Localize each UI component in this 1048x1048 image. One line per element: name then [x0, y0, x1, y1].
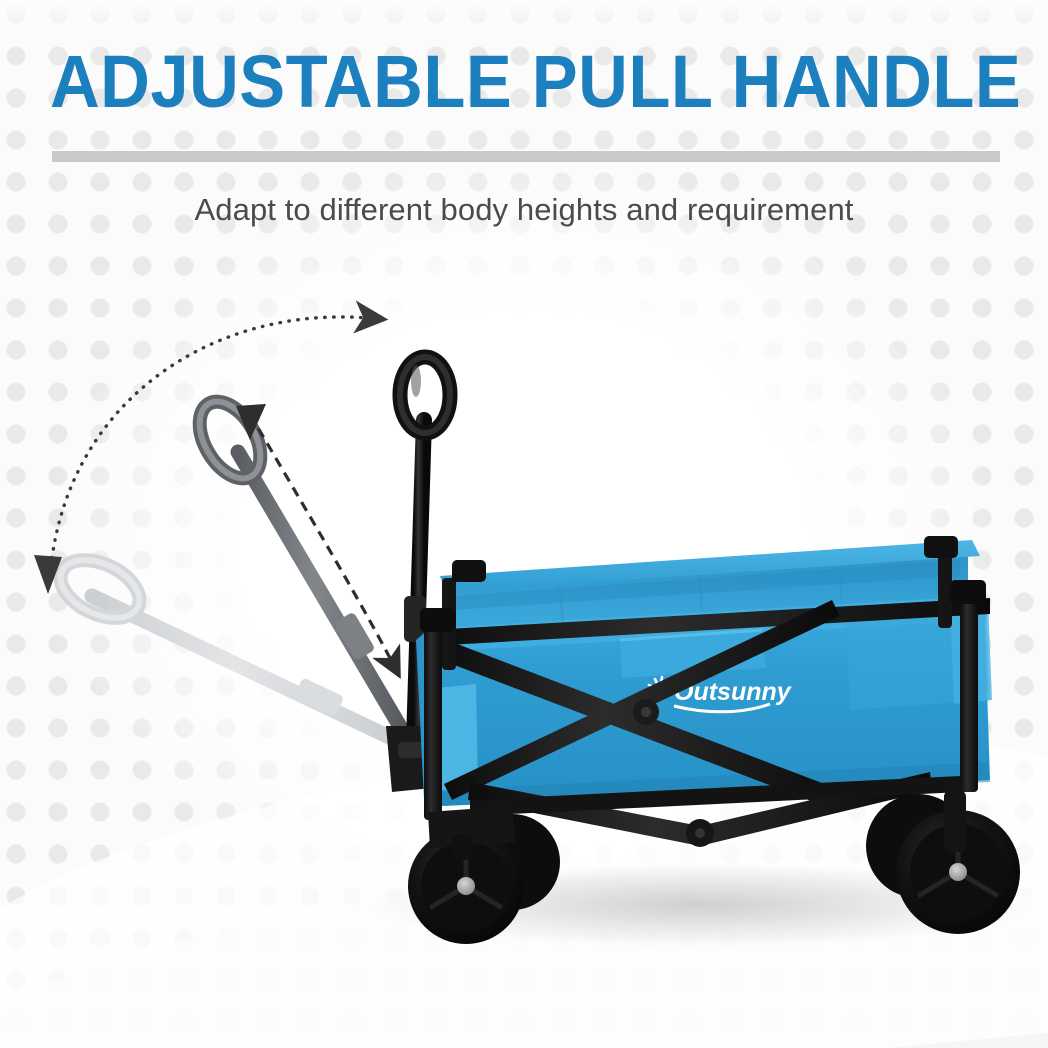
- corner-cap-left-front: [420, 608, 456, 632]
- frame-post-right-rear: [938, 548, 952, 628]
- corner-cap-right-front: [950, 580, 986, 604]
- wheel-hub-rear: [949, 863, 967, 881]
- wheel-hub-front: [457, 877, 475, 895]
- product-feature-banner: ADJUSTABLE PULL HANDLE Adapt to differen…: [0, 0, 1048, 1048]
- corner-cap-right-rear: [924, 536, 958, 558]
- handle-swing-arc-arrow: [34, 317, 368, 594]
- product-illustration: Outsunny: [0, 0, 1048, 1048]
- wheel-fork-rear: [944, 790, 966, 852]
- frame-post-left-front: [424, 620, 442, 820]
- corner-cap-left-rear: [452, 560, 486, 582]
- frame-post-right-front: [960, 592, 978, 792]
